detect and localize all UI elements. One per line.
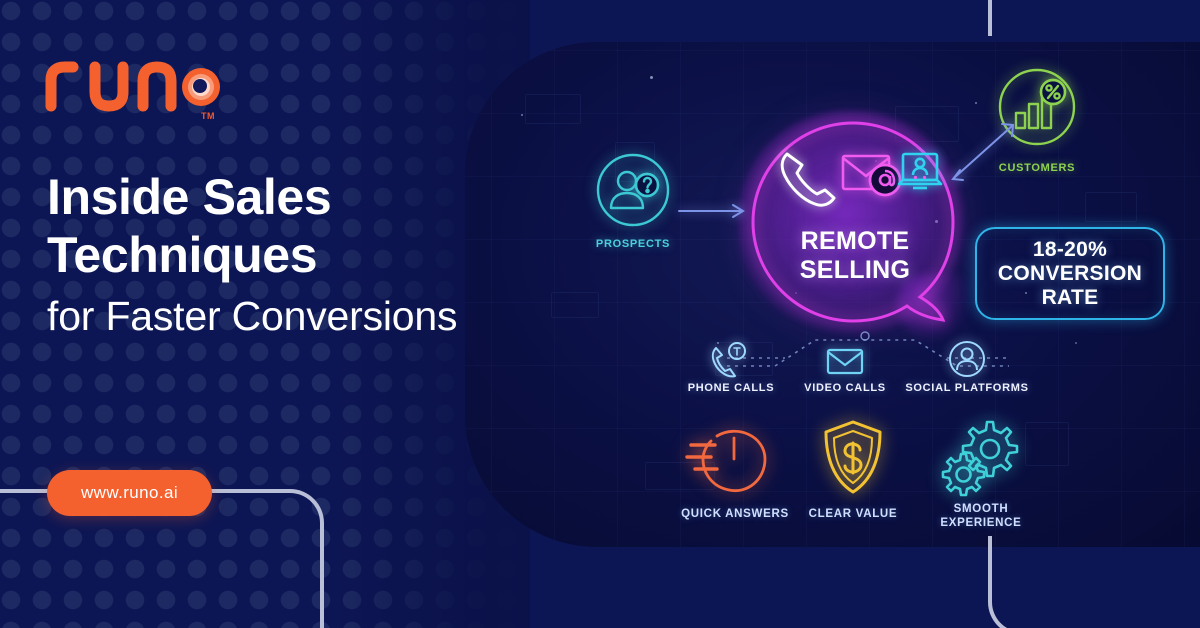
headline-block: Inside Sales Techniques for Faster Conve… <box>47 168 517 344</box>
video-laptop-icon <box>899 154 941 188</box>
headline-line-2: Techniques <box>47 226 517 284</box>
corner-line-top-right <box>988 0 992 36</box>
phone-badge-icon <box>710 342 750 378</box>
center-title: REMOTE SELLING <box>765 227 945 285</box>
conversion-rate-box: 18-20% CONVERSION RATE <box>975 227 1165 320</box>
arrow-center-to-customers <box>950 120 1020 182</box>
headline-line-1: Inside Sales <box>47 168 517 226</box>
phone-icon <box>782 154 834 205</box>
person-question-icon <box>595 152 671 228</box>
benefit-label-clear-value: CLEAR VALUE <box>791 508 915 520</box>
center-title-line-1: REMOTE <box>765 227 945 256</box>
conversion-rate-line-3: RATE <box>998 286 1142 310</box>
runo-logo[interactable]: TM <box>43 54 243 110</box>
trademark-symbol: TM <box>201 111 215 121</box>
benefit-label-smooth-line-1: SMOOTH <box>917 502 1045 516</box>
benefit-label-smooth-line-2: EXPERIENCE <box>917 516 1045 530</box>
channel-label-social-platforms: SOCIAL PLATFORMS <box>901 382 1033 394</box>
channel-label-video-calls: VIDEO CALLS <box>787 382 903 394</box>
speed-clock-icon <box>687 420 783 498</box>
arrow-prospects-to-center <box>677 202 749 220</box>
benefit-label-smooth-experience: SMOOTH EXPERIENCE <box>917 502 1045 530</box>
center-channel-icons <box>777 146 942 212</box>
email-at-icon <box>843 156 900 195</box>
marketing-banner: TM Inside Sales Techniques for Faster Co… <box>0 0 1200 628</box>
channel-label-phone-calls: PHONE CALLS <box>673 382 789 394</box>
envelope-icon <box>825 346 865 376</box>
website-url-button[interactable]: www.runo.ai <box>47 470 212 516</box>
corner-line-bottom-right <box>988 536 1200 628</box>
runo-logotype <box>43 54 223 110</box>
shield-dollar-icon <box>820 418 886 498</box>
headline-subline: for Faster Conversions <box>47 288 517 344</box>
prospects-label: PROSPECTS <box>583 238 683 250</box>
center-title-line-2: SELLING <box>765 256 945 285</box>
gears-icon <box>941 418 1021 494</box>
remote-selling-diagram: REMOTE SELLING PROSPECTS <box>465 42 1200 547</box>
conversion-rate-line-2: CONVERSION <box>998 262 1142 286</box>
conversion-rate-value: 18-20% <box>998 238 1142 262</box>
benefit-label-quick-answers: QUICK ANSWERS <box>663 508 807 520</box>
person-circle-icon <box>948 340 986 378</box>
